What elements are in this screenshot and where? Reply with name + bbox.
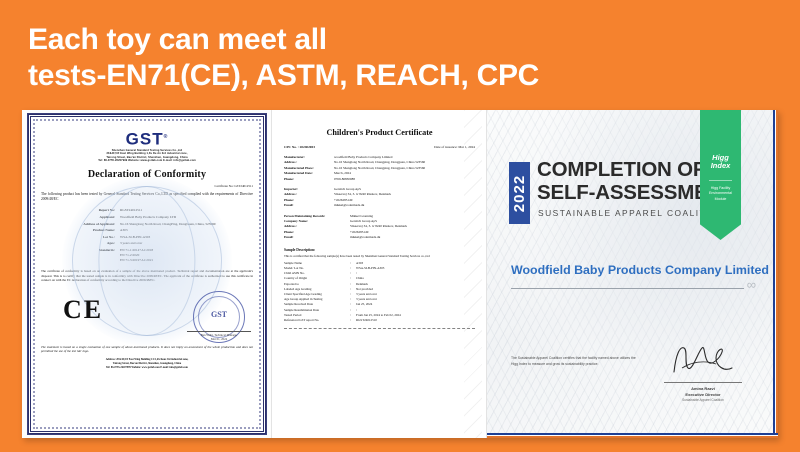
field-row: Lot No.: WSA-SLB-PIN-A303 — [41, 235, 253, 240]
field-row: Ages: 3 years and over — [41, 241, 253, 246]
registered-mark: ® — [164, 134, 169, 140]
ribbon-sub-line: Module — [700, 197, 741, 202]
signature-icon — [664, 342, 744, 376]
field-row: Phone:0769-86830088 — [284, 177, 475, 182]
headline-line-1: Each toy can meet all — [28, 22, 768, 58]
field-row: Product Name: A303 — [41, 228, 253, 233]
ce-mark-icon: CE — [63, 297, 103, 323]
field-value: RGST24012511 — [120, 208, 253, 213]
doc1-intro-paragraph: The following product has been tested by… — [41, 192, 253, 202]
sample-description-heading: Sample Description: — [284, 248, 475, 252]
field-value: No.16 Shanglong North Road, ChangPing, D… — [120, 222, 253, 227]
certificate-childrens-product[interactable]: Children's Product Certificate CPC No. :… — [272, 110, 486, 438]
dashed-separator — [284, 328, 475, 329]
field-key: Phone: — [284, 177, 334, 182]
doc2-title: Children's Product Certificate — [284, 128, 475, 137]
signer-organization: Sustainable Apparel Coalition — [664, 398, 742, 403]
field-value: A303 — [120, 228, 253, 233]
doc2-header-row: CPC No. : 202402003 Date of issuance: Ma… — [284, 145, 475, 149]
doc3-bottom-border — [487, 433, 778, 438]
field-key: Lot No.: — [41, 235, 120, 240]
doc3-rule — [511, 288, 744, 289]
field-value: mikkel@rodermads.dk — [350, 235, 475, 240]
certificate-higg-self-assessment[interactable]: 2022 COMPLETION OF SELF-ASSESSMENT SUSTA… — [487, 110, 778, 438]
row-key: Referenced GST report No. — [284, 318, 350, 323]
field-row: Applicant: Woodfield Baby Products Compa… — [41, 215, 253, 220]
headline-line-2: tests-EN71(CE), ASTM, REACH, CPC — [28, 58, 768, 94]
company-line: Tel: 86-0755-26207999 Website: www.gstla… — [41, 159, 253, 163]
table-row: Referenced GST report No.:RGST24012510 — [284, 318, 475, 323]
gst-logo-text: GST — [126, 130, 164, 149]
footer-line: Tel: 86-0755-26207999 Website: www.gstla… — [41, 366, 253, 370]
certificate-declaration-of-conformity[interactable]: GST® Shenzhen General Standard Testing S… — [22, 110, 271, 438]
doc1-certificate-number: Certificate No: GST24012511 — [41, 184, 253, 188]
doc1-statement: The statement is based on a single evalu… — [41, 345, 253, 354]
doc3-heading-line-1: COMPLETION OF — [537, 158, 705, 181]
field-value: 3 years and over — [120, 241, 253, 246]
doc1-title: Declaration of Conformity — [41, 169, 253, 180]
doc3-subheading: SUSTAINABLE APPAREL COALITION — [538, 208, 726, 218]
doc2-manufacturer-block: Manufacturer:woodfield Baby Products Com… — [284, 155, 475, 182]
field-row: Report No: RGST24012511 — [41, 208, 253, 213]
doc1-signature-block: Ben Wubi, Technical Manager Mar 01, 2024 — [187, 331, 251, 341]
doc1-body-paragraph: The certificate of conformity is based o… — [41, 269, 253, 283]
page-title: Each toy can meet all tests-EN71(CE), AS… — [28, 22, 768, 94]
doc3-right-border — [773, 110, 778, 438]
field-value: Woodfield Baby Products Company LTD — [120, 215, 253, 220]
field-key: Address of Applicant: — [41, 222, 120, 227]
field-row: Standards: EN 71-1:2014+A1:2018 EN 71-2:… — [41, 248, 253, 263]
field-row: Address of Applicant: No.16 Shanglong No… — [41, 222, 253, 227]
doc2-importer-block: Importer:Gersitch Group ApS Address :Vik… — [284, 187, 475, 209]
certificates-panel: GST® Shenzhen General Standard Testing S… — [22, 110, 778, 438]
field-key: Product Name: — [41, 228, 120, 233]
doc1-field-list: Report No: RGST24012511 Applicant: Woodf… — [41, 208, 253, 263]
cpc-number: CPC No. : 202402003 — [284, 145, 315, 149]
higg-index-logo-icon: Higg Index — [700, 154, 741, 170]
doc3-footer-text: The Sustainable Apparel Coalition certif… — [511, 355, 636, 368]
field-key: Standards: — [41, 248, 120, 263]
sample-description-table: Sample Name:A303 Model/ Lot No.:WSA-SLB-… — [284, 261, 475, 323]
doc1-marks-row: CE GST Ben Wubi, Technical Manager Mar 0… — [41, 287, 253, 343]
field-value: 0769-86830088 — [334, 177, 475, 182]
stamp-label: GST — [193, 310, 245, 319]
sample-description-note: This is certified that the following sam… — [284, 254, 475, 258]
year-badge-label: 2022 — [511, 174, 528, 211]
doc1-footer-address: Address: 2F&4F,5/F East Wing Building C1… — [41, 358, 253, 369]
field-value: mikkel@rodermads.dk — [334, 203, 475, 208]
field-row: Email:mikkel@rodermads.dk — [284, 235, 475, 240]
field-key: Email: — [284, 235, 350, 240]
gst-company-address: Shenzhen General Standard Testing Servic… — [41, 149, 253, 163]
ribbon-subtitle: Higg Facility Environmental Module — [700, 186, 741, 202]
issue-date: Date of issuance: Mar 1, 2024 — [434, 145, 475, 149]
field-key: Ages: — [41, 241, 120, 246]
field-key: Email: — [284, 203, 334, 208]
year-badge: 2022 — [509, 162, 530, 224]
row-value: RGST24012510 — [356, 318, 475, 323]
field-key: Applicant: — [41, 215, 120, 220]
doc3-company-name: Woodfield Baby Products Company Limited — [511, 263, 769, 277]
infinity-icon: ∞ — [747, 278, 756, 291]
field-row: Email:mikkel@rodermads.dk — [284, 203, 475, 208]
field-value: WSA-SLB-PIN-A303 — [120, 235, 253, 240]
doc2-records-block: Person Maintaining Records:Mikkel Gronni… — [284, 214, 475, 241]
doc3-signature-block: Amina Razvi Executive Director Sustainab… — [664, 342, 742, 403]
field-value: EN 71-3:2019+A1:2021 — [120, 258, 253, 263]
higg-index-ribbon: Higg Index Higg Facility Environmental M… — [700, 110, 741, 240]
gst-logo: GST® — [41, 129, 253, 148]
higg-logo-bottom: Index — [700, 162, 741, 170]
field-key: Report No: — [41, 208, 120, 213]
signer-date: Mar 01, 2024 — [187, 337, 251, 341]
